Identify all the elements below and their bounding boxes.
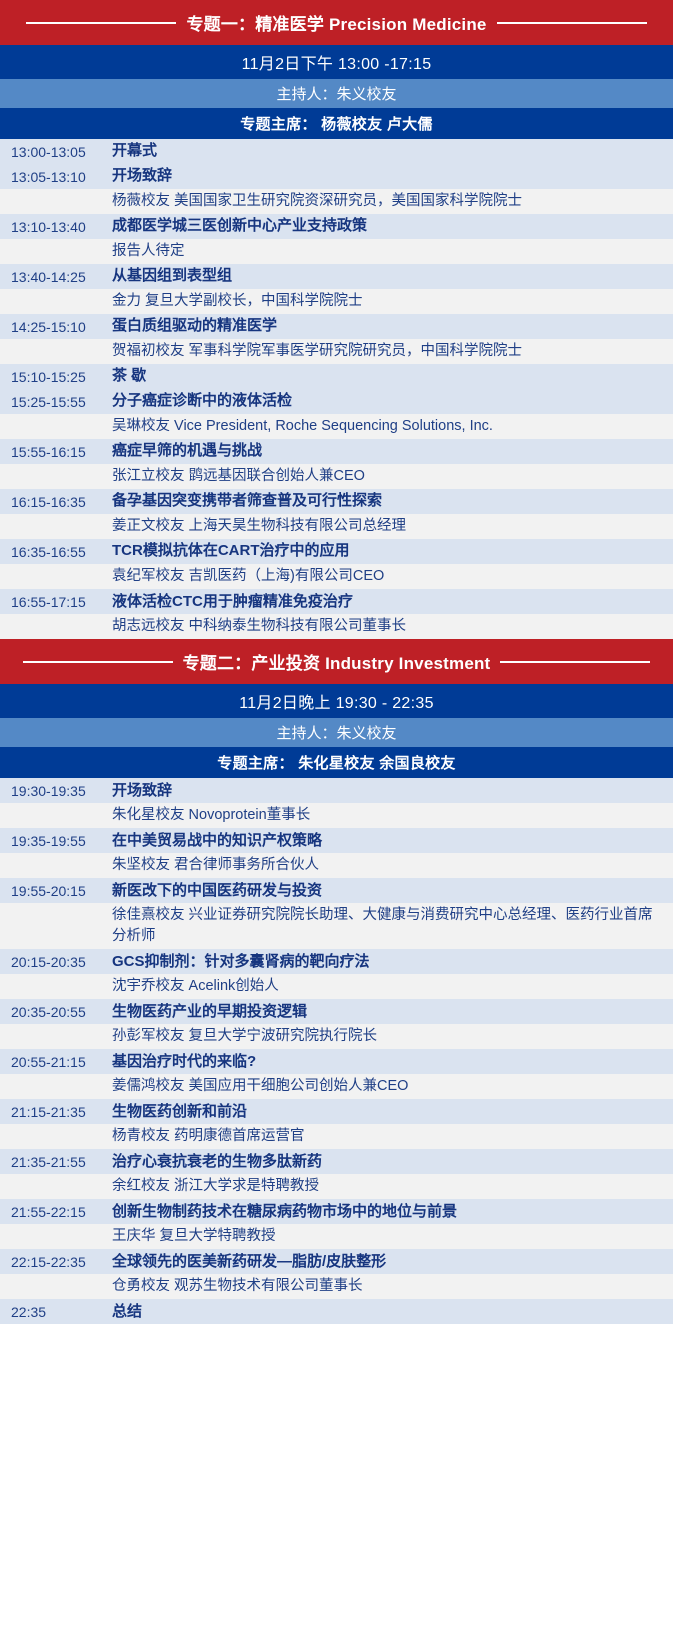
conference-agenda-page: 专题一：精准医学 Precision Medicine11月2日下午 13:00… bbox=[0, 0, 673, 1324]
agenda-row: 报告人待定 bbox=[0, 239, 673, 264]
section-title-band: 专题一：精准医学 Precision Medicine bbox=[0, 0, 673, 45]
agenda-row-title: 治疗心衰抗衰老的生物多肽新药 bbox=[112, 1152, 673, 1172]
agenda-row-time: 21:55-22:15 bbox=[0, 1204, 112, 1220]
agenda-row-time: 15:10-15:25 bbox=[0, 369, 112, 385]
agenda-row: 20:55-21:15基因治疗时代的来临? bbox=[0, 1049, 673, 1074]
agenda-row: 胡志远校友 中科纳泰生物科技有限公司董事长 bbox=[0, 614, 673, 639]
session-date-text: 11月2日下午 13:00 -17:15 bbox=[242, 50, 432, 74]
agenda-row-speaker: 姜正文校友 上海天昊生物科技有限公司总经理 bbox=[112, 516, 673, 537]
agenda-row-time: 13:10-13:40 bbox=[0, 219, 112, 235]
agenda-section-session-2: 专题二：产业投资 Industry Investment11月2日晚上 19:3… bbox=[0, 639, 673, 1324]
agenda-row-title: 从基因组到表型组 bbox=[112, 266, 673, 286]
agenda-row-title: 全球领先的医美新药研发—脂肪/皮肤整形 bbox=[112, 1252, 673, 1272]
agenda-row-time: 21:35-21:55 bbox=[0, 1154, 112, 1170]
agenda-row: 王庆华 复旦大学特聘教授 bbox=[0, 1224, 673, 1249]
agenda-row: 19:55-20:15新医改下的中国医药研发与投资 bbox=[0, 878, 673, 903]
agenda-row-speaker: 徐佳熹校友 兴业证券研究院院长助理、大健康与消费研究中心总经理、医药行业首席分析… bbox=[112, 905, 673, 947]
agenda-row-speaker: 金力 复旦大学副校长，中国科学院院士 bbox=[112, 291, 673, 312]
agenda-row: 余红校友 浙江大学求是特聘教授 bbox=[0, 1174, 673, 1199]
agenda-row: 15:10-15:25茶 歇 bbox=[0, 364, 673, 389]
decorative-rule-right bbox=[497, 22, 647, 24]
agenda-row-speaker: 沈宇乔校友 Acelink创始人 bbox=[112, 976, 673, 997]
session-chair-band: 专题主席： 杨薇校友 卢大儒 bbox=[0, 108, 673, 139]
section-title-band: 专题二：产业投资 Industry Investment bbox=[0, 639, 673, 684]
agenda-row-speaker: 杨薇校友 美国国家卫生研究院资深研究员，美国国家科学院院士 bbox=[112, 191, 673, 212]
agenda-row-time: 16:15-16:35 bbox=[0, 494, 112, 510]
agenda-row-title: 备孕基因突变携带者筛查普及可行性探索 bbox=[112, 491, 673, 511]
session-date-band: 11月2日下午 13:00 -17:15 bbox=[0, 45, 673, 79]
session-date-text: 11月2日晚上 19:30 - 22:35 bbox=[239, 689, 434, 713]
agenda-row: 19:35-19:55在中美贸易战中的知识产权策略 bbox=[0, 828, 673, 853]
agenda-row-title: 茶 歇 bbox=[112, 366, 673, 386]
agenda-row-time: 15:25-15:55 bbox=[0, 394, 112, 410]
agenda-row: 16:55-17:15液体活检CTC用于肿瘤精准免疫治疗 bbox=[0, 589, 673, 614]
agenda-row: 朱坚校友 君合律师事务所合伙人 bbox=[0, 853, 673, 878]
agenda-row-title: 成都医学城三医创新中心产业支持政策 bbox=[112, 216, 673, 236]
agenda-row: 杨薇校友 美国国家卫生研究院资深研究员，美国国家科学院院士 bbox=[0, 189, 673, 214]
agenda-row: 姜儒鸿校友 美国应用干细胞公司创始人兼CEO bbox=[0, 1074, 673, 1099]
agenda-row-speaker: 报告人待定 bbox=[112, 241, 673, 262]
agenda-row: 21:55-22:15创新生物制药技术在糖尿病药物市场中的地位与前景 bbox=[0, 1199, 673, 1224]
agenda-row-speaker: 张江立校友 鹍远基因联合创始人兼CEO bbox=[112, 466, 673, 487]
agenda-row-time: 20:55-21:15 bbox=[0, 1054, 112, 1070]
agenda-row-title: 新医改下的中国医药研发与投资 bbox=[112, 881, 673, 901]
agenda-row-title: 创新生物制药技术在糖尿病药物市场中的地位与前景 bbox=[112, 1202, 673, 1222]
agenda-row: 16:35-16:55TCR模拟抗体在CART治疗中的应用 bbox=[0, 539, 673, 564]
agenda-row: 13:40-14:25从基因组到表型组 bbox=[0, 264, 673, 289]
agenda-row-speaker: 杨青校友 药明康德首席运营官 bbox=[112, 1126, 673, 1147]
agenda-row-time: 20:15-20:35 bbox=[0, 954, 112, 970]
agenda-row-speaker: 吴琳校友 Vice President, Roche Sequencing So… bbox=[112, 416, 673, 437]
agenda-row-title: 液体活检CTC用于肿瘤精准免疫治疗 bbox=[112, 592, 673, 612]
agenda-row: 20:35-20:55生物医药产业的早期投资逻辑 bbox=[0, 999, 673, 1024]
agenda-row: 金力 复旦大学副校长，中国科学院院士 bbox=[0, 289, 673, 314]
session-host-text: 主持人：朱义校友 bbox=[276, 722, 396, 743]
agenda-row-speaker: 朱坚校友 君合律师事务所合伙人 bbox=[112, 855, 673, 876]
decorative-rule-left bbox=[23, 661, 173, 663]
agenda-row-title: 生物医药创新和前沿 bbox=[112, 1102, 673, 1122]
session-chair-text: 专题主席： 朱化星校友 余国良校友 bbox=[217, 752, 455, 773]
agenda-row-title: TCR模拟抗体在CART治疗中的应用 bbox=[112, 541, 673, 561]
agenda-row-time: 14:25-15:10 bbox=[0, 319, 112, 335]
agenda-row: 22:15-22:35全球领先的医美新药研发—脂肪/皮肤整形 bbox=[0, 1249, 673, 1274]
agenda-row-title: 在中美贸易战中的知识产权策略 bbox=[112, 831, 673, 851]
session-host-text: 主持人：朱义校友 bbox=[276, 83, 396, 104]
agenda-row-speaker: 姜儒鸿校友 美国应用干细胞公司创始人兼CEO bbox=[112, 1076, 673, 1097]
agenda-row-time: 21:15-21:35 bbox=[0, 1104, 112, 1120]
agenda-row: 20:15-20:35GCS抑制剂：针对多囊肾病的靶向疗法 bbox=[0, 949, 673, 974]
decorative-rule-left bbox=[26, 22, 176, 24]
agenda-row: 徐佳熹校友 兴业证券研究院院长助理、大健康与消费研究中心总经理、医药行业首席分析… bbox=[0, 903, 673, 949]
session-host-band: 主持人：朱义校友 bbox=[0, 718, 673, 747]
agenda-row-title: 总结 bbox=[112, 1302, 673, 1322]
agenda-row: 张江立校友 鹍远基因联合创始人兼CEO bbox=[0, 464, 673, 489]
agenda-row-title: 开场致辞 bbox=[112, 166, 673, 186]
agenda-row: 13:05-13:10开场致辞 bbox=[0, 164, 673, 189]
agenda-row: 朱化星校友 Novoprotein董事长 bbox=[0, 803, 673, 828]
decorative-rule-right bbox=[500, 661, 650, 663]
agenda-row: 19:30-19:35开场致辞 bbox=[0, 778, 673, 803]
agenda-row-speaker: 朱化星校友 Novoprotein董事长 bbox=[112, 805, 673, 826]
agenda-row: 14:25-15:10蛋白质组驱动的精准医学 bbox=[0, 314, 673, 339]
agenda-row-time: 22:15-22:35 bbox=[0, 1254, 112, 1270]
agenda-row-time: 19:35-19:55 bbox=[0, 833, 112, 849]
agenda-row: 孙彭军校友 复旦大学宁波研究院执行院长 bbox=[0, 1024, 673, 1049]
agenda-rows: 13:00-13:05开幕式13:05-13:10开场致辞杨薇校友 美国国家卫生… bbox=[0, 139, 673, 639]
agenda-row-speaker: 余红校友 浙江大学求是特聘教授 bbox=[112, 1176, 673, 1197]
agenda-row-title: 基因治疗时代的来临? bbox=[112, 1052, 673, 1072]
agenda-row-title: 生物医药产业的早期投资逻辑 bbox=[112, 1002, 673, 1022]
agenda-row-time: 13:40-14:25 bbox=[0, 269, 112, 285]
agenda-row-speaker: 胡志远校友 中科纳泰生物科技有限公司董事长 bbox=[112, 616, 673, 637]
agenda-rows: 19:30-19:35开场致辞朱化星校友 Novoprotein董事长19:35… bbox=[0, 778, 673, 1324]
agenda-row: 袁纪军校友 吉凯医药（上海)有限公司CEO bbox=[0, 564, 673, 589]
agenda-row-time: 16:35-16:55 bbox=[0, 544, 112, 560]
agenda-row-title: 蛋白质组驱动的精准医学 bbox=[112, 316, 673, 336]
agenda-row-title: 分子癌症诊断中的液体活检 bbox=[112, 391, 673, 411]
session-host-band: 主持人：朱义校友 bbox=[0, 79, 673, 108]
session-chair-band: 专题主席： 朱化星校友 余国良校友 bbox=[0, 747, 673, 778]
agenda-row-speaker: 贺福初校友 军事科学院军事医学研究院研究员，中国科学院院士 bbox=[112, 341, 673, 362]
session-date-band: 11月2日晚上 19:30 - 22:35 bbox=[0, 684, 673, 718]
agenda-row-time: 13:00-13:05 bbox=[0, 144, 112, 160]
agenda-row-time: 13:05-13:10 bbox=[0, 169, 112, 185]
agenda-row-speaker: 孙彭军校友 复旦大学宁波研究院执行院长 bbox=[112, 1026, 673, 1047]
agenda-section-session-1: 专题一：精准医学 Precision Medicine11月2日下午 13:00… bbox=[0, 0, 673, 639]
agenda-row-time: 22:35 bbox=[0, 1304, 112, 1320]
agenda-row: 15:55-16:15癌症早筛的机遇与挑战 bbox=[0, 439, 673, 464]
agenda-row-time: 19:30-19:35 bbox=[0, 783, 112, 799]
agenda-row-time: 20:35-20:55 bbox=[0, 1004, 112, 1020]
agenda-row-time: 15:55-16:15 bbox=[0, 444, 112, 460]
agenda-row-title: 开幕式 bbox=[112, 141, 673, 161]
agenda-row: 22:35总结 bbox=[0, 1299, 673, 1324]
agenda-row-speaker: 袁纪军校友 吉凯医药（上海)有限公司CEO bbox=[112, 566, 673, 587]
agenda-row: 15:25-15:55分子癌症诊断中的液体活检 bbox=[0, 389, 673, 414]
agenda-row-time: 16:55-17:15 bbox=[0, 594, 112, 610]
agenda-row-title: 开场致辞 bbox=[112, 781, 673, 801]
agenda-row: 13:10-13:40成都医学城三医创新中心产业支持政策 bbox=[0, 214, 673, 239]
agenda-row: 吴琳校友 Vice President, Roche Sequencing So… bbox=[0, 414, 673, 439]
agenda-row: 沈宇乔校友 Acelink创始人 bbox=[0, 974, 673, 999]
agenda-row: 仓勇校友 观苏生物技术有限公司董事长 bbox=[0, 1274, 673, 1299]
section-title: 专题二：产业投资 Industry Investment bbox=[183, 649, 491, 674]
agenda-row: 16:15-16:35备孕基因突变携带者筛查普及可行性探索 bbox=[0, 489, 673, 514]
agenda-row: 13:00-13:05开幕式 bbox=[0, 139, 673, 164]
agenda-row-title: GCS抑制剂：针对多囊肾病的靶向疗法 bbox=[112, 952, 673, 972]
agenda-row: 杨青校友 药明康德首席运营官 bbox=[0, 1124, 673, 1149]
agenda-row: 21:15-21:35生物医药创新和前沿 bbox=[0, 1099, 673, 1124]
agenda-row-speaker: 王庆华 复旦大学特聘教授 bbox=[112, 1226, 673, 1247]
section-title: 专题一：精准医学 Precision Medicine bbox=[186, 10, 486, 35]
agenda-row: 姜正文校友 上海天昊生物科技有限公司总经理 bbox=[0, 514, 673, 539]
agenda-row-time: 19:55-20:15 bbox=[0, 883, 112, 899]
agenda-row-title: 癌症早筛的机遇与挑战 bbox=[112, 441, 673, 461]
session-chair-text: 专题主席： 杨薇校友 卢大儒 bbox=[240, 113, 433, 134]
agenda-row-speaker: 仓勇校友 观苏生物技术有限公司董事长 bbox=[112, 1276, 673, 1297]
agenda-row: 21:35-21:55治疗心衰抗衰老的生物多肽新药 bbox=[0, 1149, 673, 1174]
agenda-row: 贺福初校友 军事科学院军事医学研究院研究员，中国科学院院士 bbox=[0, 339, 673, 364]
